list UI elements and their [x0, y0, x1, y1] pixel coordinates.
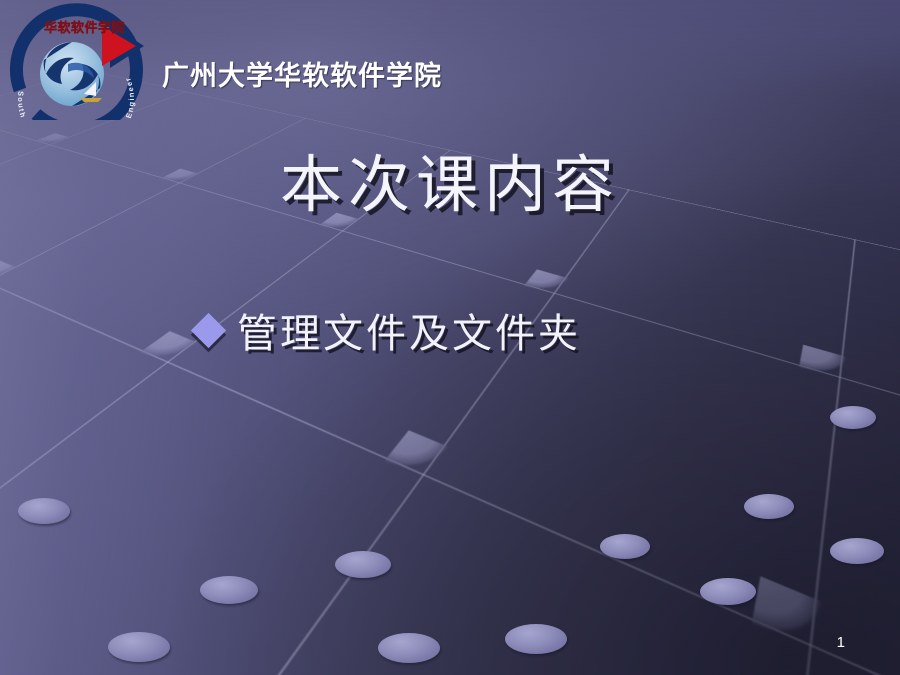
bullet-list-item: 管理文件及文件夹 [196, 301, 581, 359]
institute-logo: South China Institute of Software Engine… [6, 2, 158, 120]
logo-chinese-text: 华软软件学院 [44, 20, 125, 36]
page-number: 1 [837, 634, 845, 651]
bullet-item-label: 管理文件及文件夹 [237, 301, 581, 359]
slide-title: 本次课内容 [0, 152, 900, 219]
diamond-bullet-icon [191, 312, 226, 347]
slide-header-title: 广州大学华软软件学院 [162, 54, 442, 93]
presentation-slide: South China Institute of Software Engine… [0, 0, 900, 675]
